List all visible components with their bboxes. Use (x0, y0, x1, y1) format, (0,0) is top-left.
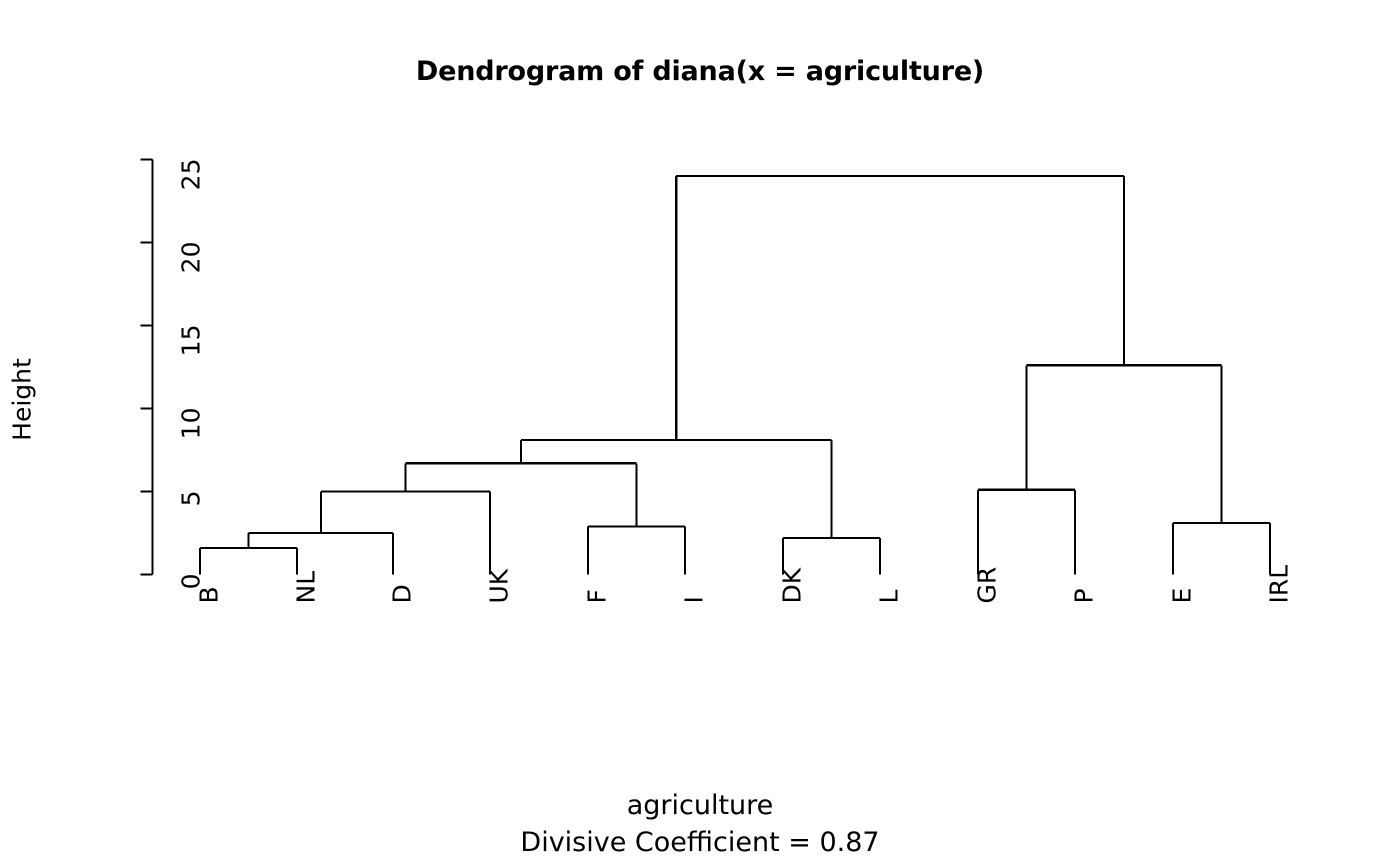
leaf-label-l: L (875, 483, 904, 603)
caption-dataset: agriculture (0, 787, 1400, 825)
caption-divisive-coefficient: Divisive Coefficient = 0.87 (0, 824, 1400, 862)
y-axis-tick-label-10: 10 (176, 407, 205, 467)
leaf-label-d: D (388, 483, 417, 603)
leaf-label-e: E (1168, 483, 1197, 603)
leaf-label-gr: GR (973, 483, 1002, 603)
dendrogram-plot: Dendrogram of diana(x = agriculture) Hei… (0, 0, 1400, 866)
leaf-label-nl: NL (292, 483, 321, 603)
y-axis-tick-label-25: 25 (176, 158, 205, 218)
leaf-label-i: I (680, 483, 709, 603)
leaf-label-dk: DK (778, 483, 807, 603)
y-axis-tick-label-20: 20 (176, 241, 205, 301)
leaf-label-uk: UK (485, 483, 514, 603)
y-axis-tick-label-15: 15 (176, 324, 205, 384)
leaf-label-irl: IRL (1265, 483, 1294, 603)
leaf-label-b: B (195, 483, 224, 603)
leaf-label-p: P (1070, 483, 1099, 603)
dendrogram-canvas (0, 0, 1400, 866)
leaf-label-f: F (583, 483, 612, 603)
